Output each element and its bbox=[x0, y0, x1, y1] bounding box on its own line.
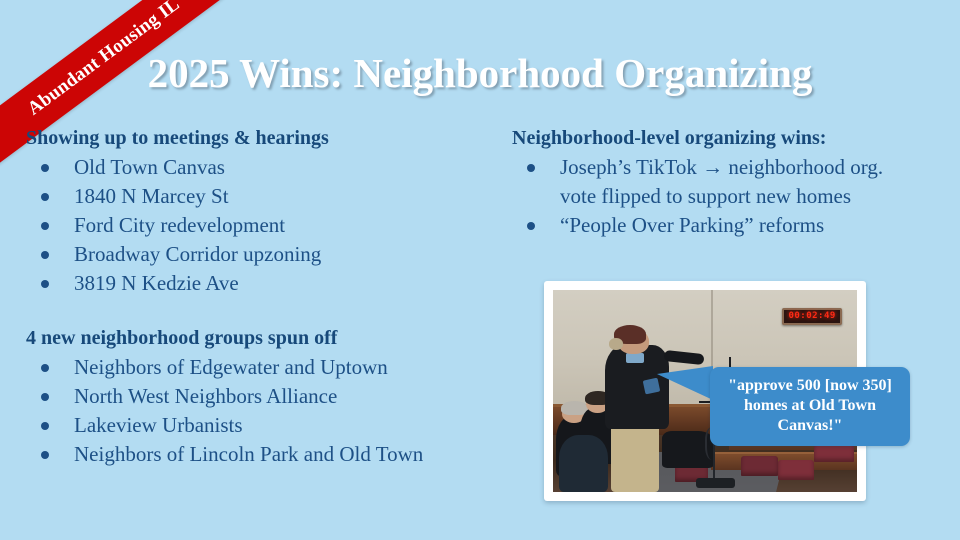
list-item-label: Lakeview Urbanists bbox=[74, 413, 243, 437]
countdown-timer-value: 00:02:49 bbox=[788, 312, 835, 321]
bullet-dot-icon bbox=[41, 193, 49, 201]
bullet-dot-icon bbox=[41, 393, 49, 401]
speaker-collar bbox=[626, 353, 644, 363]
left-column: Showing up to meetings & hearings Old To… bbox=[26, 126, 496, 469]
list-item-label: Neighbors of Edgewater and Uptown bbox=[74, 355, 388, 379]
list-item-label: Broadway Corridor upzoning bbox=[74, 242, 321, 266]
auditorium-seat bbox=[741, 456, 777, 476]
bullet-dot-icon bbox=[41, 222, 49, 230]
list-item: Neighbors of Lincoln Park and Old Town bbox=[26, 440, 496, 469]
list-item: “People Over Parking” reforms bbox=[512, 211, 952, 240]
right-section-1-list: Joseph’s TikTok → neighborhood org. vote… bbox=[512, 153, 952, 240]
list-item: Old Town Canvas bbox=[26, 153, 496, 182]
left-section-1-list: Old Town Canvas 1840 N Marcey St Ford Ci… bbox=[26, 153, 496, 298]
list-item-label: Neighbors of Lincoln Park and Old Town bbox=[74, 442, 423, 466]
list-item-label: Joseph’s TikTok → neighborhood org. bbox=[560, 153, 952, 182]
list-item: 3819 N Kedzie Ave bbox=[26, 269, 496, 298]
bullet-dot-icon bbox=[41, 251, 49, 259]
bullet-dot-icon bbox=[41, 280, 49, 288]
left-section-1-heading: Showing up to meetings & hearings bbox=[26, 126, 496, 151]
list-item-label: North West Neighbors Alliance bbox=[74, 384, 337, 408]
bullet-dot-icon bbox=[41, 164, 49, 172]
speaker-legs bbox=[611, 423, 660, 492]
list-item: Ford City redevelopment bbox=[26, 211, 496, 240]
microphone-base bbox=[696, 478, 736, 488]
list-item: Neighbors of Edgewater and Uptown bbox=[26, 353, 496, 382]
audience-member bbox=[559, 435, 608, 492]
speech-bubble-tail bbox=[657, 366, 713, 400]
slide-title: 2025 Wins: Neighborhood Organizing bbox=[0, 52, 960, 95]
list-item-label: Ford City redevelopment bbox=[74, 213, 285, 237]
left-section-2-list: Neighbors of Edgewater and Uptown North … bbox=[26, 353, 496, 469]
bullet-dot-icon bbox=[527, 164, 535, 172]
list-item-label: “People Over Parking” reforms bbox=[560, 211, 952, 240]
list-item: North West Neighbors Alliance bbox=[26, 382, 496, 411]
bullet-dot-icon bbox=[41, 451, 49, 459]
list-item-label: 3819 N Kedzie Ave bbox=[74, 271, 239, 295]
countdown-timer-display: 00:02:49 bbox=[782, 308, 841, 325]
right-section-1-heading: Neighborhood-level organizing wins: bbox=[512, 126, 952, 151]
list-item: Broadway Corridor upzoning bbox=[26, 240, 496, 269]
auditorium-seat bbox=[814, 444, 854, 462]
list-item-label: Old Town Canvas bbox=[74, 155, 225, 179]
list-item-label-continued: vote flipped to support new homes bbox=[560, 182, 952, 211]
speech-bubble: "approve 500 [now 350] homes at Old Town… bbox=[710, 367, 910, 446]
list-item: Joseph’s TikTok → neighborhood org. vote… bbox=[512, 153, 952, 211]
bullet-dot-icon bbox=[527, 222, 535, 230]
list-item: Lakeview Urbanists bbox=[26, 411, 496, 440]
auditorium-seat bbox=[778, 460, 814, 480]
list-item-label: 1840 N Marcey St bbox=[74, 184, 229, 208]
list-item: 1840 N Marcey St bbox=[26, 182, 496, 211]
section-spacer bbox=[26, 298, 496, 326]
speaker-hair-bun bbox=[609, 338, 623, 349]
speech-bubble-text: "approve 500 [now 350] homes at Old Town… bbox=[720, 376, 900, 436]
bullet-dot-icon bbox=[41, 364, 49, 372]
left-section-2-heading: 4 new neighborhood groups spun off bbox=[26, 326, 496, 351]
bullet-dot-icon bbox=[41, 422, 49, 430]
slide-canvas: Abundant Housing IL 2025 Wins: Neighborh… bbox=[0, 0, 960, 540]
right-column: Neighborhood-level organizing wins: Jose… bbox=[512, 126, 952, 240]
